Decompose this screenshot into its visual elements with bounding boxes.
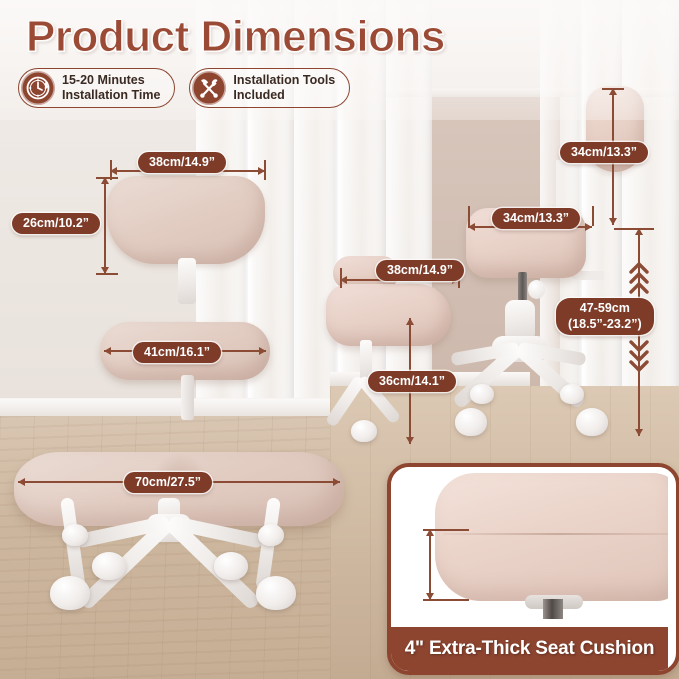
dim-line-cushion-thickness: [429, 529, 431, 600]
inset-photo: [391, 467, 668, 619]
badge-line1: Installation Tools: [233, 73, 335, 87]
caster-wheel: [62, 524, 88, 546]
left-chair-back-post: [178, 258, 196, 304]
caster-wheel: [258, 524, 284, 546]
caster-wheel: [92, 552, 126, 580]
caster-wheel: [455, 408, 487, 436]
dim-label-backrest-height: 26cm/10.2”: [12, 213, 100, 234]
dim-tick: [592, 206, 594, 226]
tools-icon: [192, 71, 226, 105]
header-band: Product Dimensions: [0, 0, 679, 120]
dim-label-seat-width: 41cm/16.1”: [133, 342, 221, 363]
caster-wheel: [351, 420, 377, 442]
dim-label-right-seat-depth: 34cm/13.3”: [492, 208, 580, 229]
badge-installation-tools-label: Installation Tools Included: [233, 73, 335, 104]
page-title: Product Dimensions: [26, 12, 445, 62]
dim-label-base-width: 70cm/27.5”: [124, 472, 212, 493]
right-chair-lever-knob: [528, 280, 545, 299]
height-range-line1: 47-59cm: [580, 301, 630, 315]
chevron-up-icon: [628, 260, 650, 299]
badge-row: 15-20 Minutes Installation Time: [18, 68, 350, 108]
caster-wheel: [256, 576, 296, 610]
seat-cushion-inset-panel: 4" Extra-Thick Seat Cushion: [387, 463, 679, 675]
badge-installation-time: 15-20 Minutes Installation Time: [18, 68, 175, 108]
left-chair-backrest: [107, 176, 265, 264]
caster-wheel: [470, 384, 494, 404]
inset-caption-text: 4" Extra-Thick Seat Cushion: [405, 638, 655, 660]
baseboard: [0, 398, 340, 417]
dim-label-middle-seat-height: 36cm/14.1”: [368, 371, 456, 392]
dim-label-right-backrest-height: 34cm/13.3”: [560, 142, 648, 163]
dim-label-middle-seat-width: 38cm/14.9”: [376, 260, 464, 281]
caster-wheel: [560, 384, 584, 404]
badge-installation-tools: Installation Tools Included: [189, 68, 350, 108]
inset-cushion-shape: [435, 473, 668, 601]
infographic-canvas: 38cm/14.9” 26cm/10.2” 41cm/16.1” 70cm/27…: [0, 0, 679, 679]
badge-line2: Included: [233, 88, 284, 102]
inset-caption-bar: 4" Extra-Thick Seat Cushion: [391, 627, 668, 671]
chevron-down-icon: [628, 340, 650, 379]
inset-gas-lift: [543, 599, 563, 619]
inset-cushion-seam: [443, 533, 668, 535]
caster-wheel: [576, 408, 608, 436]
clock-icon: [21, 71, 55, 105]
caster-wheel: [50, 576, 90, 610]
badge-line2: Installation Time: [62, 88, 160, 102]
caster-wheel: [214, 552, 248, 580]
dim-label-backrest-width: 38cm/14.9”: [138, 152, 226, 173]
left-chair-cylinder: [181, 375, 194, 420]
middle-chair-seat: [326, 284, 451, 346]
badge-line1: 15-20 Minutes: [62, 73, 145, 87]
dim-label-height-range: 47-59cm (18.5”-23.2”): [556, 298, 654, 335]
badge-installation-time-label: 15-20 Minutes Installation Time: [62, 73, 160, 104]
dim-line-backrest-height: [104, 177, 106, 274]
height-range-line2: (18.5”-23.2”): [568, 317, 642, 331]
